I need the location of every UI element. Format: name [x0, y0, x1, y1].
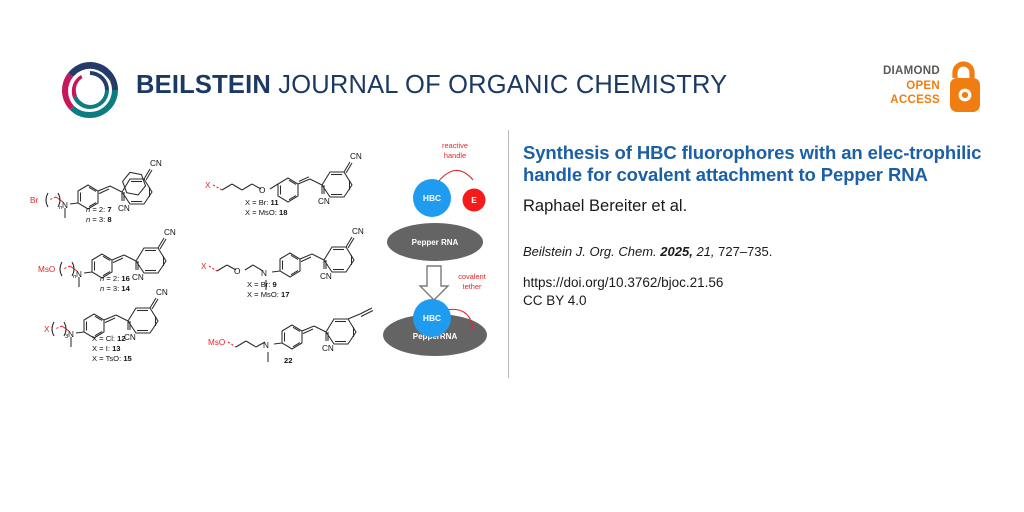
structure-4-label-2: X = MsO: 18: [245, 208, 287, 217]
structure-5-ether-o: O: [234, 267, 240, 276]
binding-scheme: reactive handle Pepper RNA HBC E covalen…: [383, 141, 487, 356]
structure-3-label-3: X = TsO: 15: [92, 354, 133, 363]
structure-6: MsO N CN 22: [208, 308, 373, 365]
graphical-abstract: N Br n CN CN n = 2: 7: [0, 130, 508, 390]
reaction-arrow-icon: [420, 266, 448, 300]
oa-access-label: ACCESS: [872, 93, 940, 108]
article-citation: Beilstein J. Org. Chem. 2025, 21, 727–73…: [523, 244, 985, 259]
beilstein-spiral-logo: [56, 56, 124, 124]
structure-5-label-2: X = MsO: 17: [247, 290, 289, 299]
structure-6-leaving-group: MsO: [208, 338, 225, 347]
structure-5: X O N CN CN X = Br: 9: [201, 227, 364, 299]
structure-3-label-2: X = I: 13: [92, 344, 121, 353]
journal-title-bold: BEILSTEIN: [136, 71, 271, 99]
reactive-handle-tether: [438, 170, 473, 182]
open-lock-icon: [946, 60, 986, 116]
article-title: Synthesis of HBC fluorophores with an el…: [523, 142, 985, 186]
structure-1-nitrile-2: CN: [150, 159, 162, 168]
structure-4-ether-o: O: [259, 186, 265, 195]
hbc-label-bottom: HBC: [423, 313, 441, 323]
structure-6-label-1: 22: [284, 356, 292, 365]
structure-1-nitrile-1: CN: [118, 204, 130, 213]
structure-5-leaving-group: X: [201, 262, 207, 271]
structure-1: N Br n CN CN n = 2: 7: [30, 159, 162, 224]
journal-title-light: JOURNAL OF ORGANIC CHEMISTRY: [271, 71, 727, 99]
structure-3-nitrile-1: CN: [124, 333, 136, 342]
structure-2-label-2: n = 3: 14: [100, 284, 131, 293]
structure-1-leaving-group: Br: [30, 196, 38, 205]
structure-4: X O CN CN X = Br: 11: [205, 152, 362, 217]
structure-2-n-subscript: n: [73, 274, 76, 280]
citation-pages: 727–735.: [718, 244, 772, 259]
page-header: BEILSTEIN JOURNAL OF ORGANIC CHEMISTRY D…: [0, 0, 1024, 130]
structure-5-nitrile-1: CN: [320, 272, 332, 281]
structure-2-nitrile-2: CN: [164, 228, 176, 237]
structure-3: N X 3 CN CN X = Cl: 12 X = I: 13 X = T: [44, 288, 168, 363]
structure-6-amine-n: N: [263, 341, 269, 350]
structure-3-nitrile-2: CN: [156, 288, 168, 297]
oa-open-label: OPEN: [872, 79, 940, 94]
structure-1-label-2: n = 3: 8: [86, 215, 112, 224]
structure-5-nitrile-2: CN: [352, 227, 364, 236]
structure-2-leaving-group: MsO: [38, 265, 55, 274]
structure-4-nitrile-2: CN: [350, 152, 362, 161]
open-access-wordmark: DIAMOND OPEN ACCESS: [872, 64, 940, 108]
diamond-open-access-badge: DIAMOND OPEN ACCESS: [872, 60, 984, 120]
vertical-divider: [508, 130, 509, 378]
reactive-handle-label-line2: handle: [444, 151, 466, 160]
structure-4-label-1: X = Br: 11: [245, 198, 279, 207]
reactive-handle-label-line1: reactive: [442, 141, 468, 150]
structure-2-label-1: n = 2: 16: [100, 274, 130, 283]
article-metadata: Synthesis of HBC fluorophores with an el…: [523, 142, 985, 308]
electrophile-label: E: [471, 195, 477, 205]
structure-5-amine-n: N: [261, 269, 267, 278]
article-license: CC BY 4.0: [523, 293, 985, 308]
structure-2: N MsO n CN CN n = 2: 16 n = 3: 14: [38, 228, 176, 293]
structure-2-nitrile-1: CN: [132, 273, 144, 282]
citation-year: 2025,: [660, 244, 693, 259]
structure-1-label-1: n = 2: 7: [86, 205, 112, 214]
structure-4-leaving-group: X: [205, 181, 211, 190]
structure-3-leaving-group: X: [44, 325, 50, 334]
citation-journal: Beilstein J. Org. Chem.: [523, 244, 657, 259]
hbc-label-top: HBC: [423, 193, 441, 203]
covalent-tether-label-line2: tether: [463, 282, 482, 291]
article-doi-link[interactable]: https://doi.org/10.3762/bjoc.21.56: [523, 275, 985, 290]
structure-6-nitrile-1: CN: [322, 344, 334, 353]
pepper-rna-label-top: Pepper RNA: [412, 238, 459, 247]
article-authors: Raphael Bereiter et al.: [523, 197, 985, 216]
oa-diamond-label: DIAMOND: [872, 64, 940, 79]
journal-title: BEILSTEIN JOURNAL OF ORGANIC CHEMISTRY: [136, 71, 727, 100]
covalent-tether-label-line1: covalent: [458, 272, 486, 281]
structure-4-nitrile-1: CN: [318, 197, 330, 206]
structure-5-label-1: X = Br: 9: [247, 280, 277, 289]
citation-volume: 21,: [696, 244, 714, 259]
structure-1-n-subscript: n: [59, 205, 62, 211]
structure-3-label-1: X = Cl: 12: [92, 334, 126, 343]
